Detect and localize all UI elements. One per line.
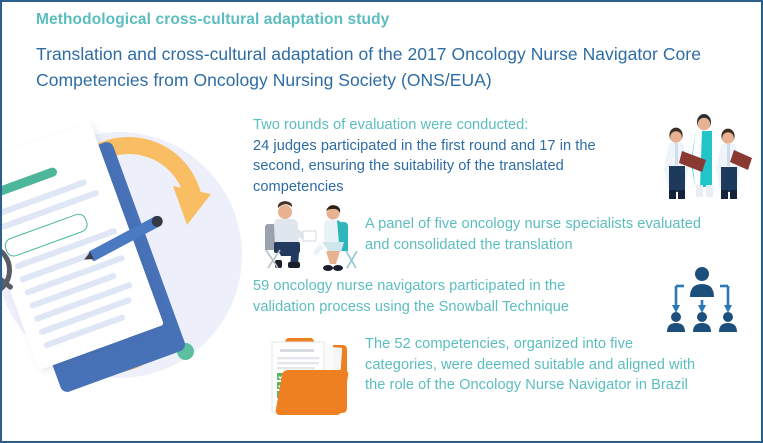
finding-snowball-validation: 59 oncology nurse navigators participate… bbox=[253, 276, 623, 317]
finding-rounds-of-evaluation: Two rounds of evaluation were conducted:… bbox=[253, 115, 608, 198]
page-title: Translation and cross-cultural adaptatio… bbox=[36, 42, 736, 93]
two-seated-people-illustration bbox=[260, 198, 360, 276]
document-review-illustration bbox=[0, 110, 236, 442]
finding-body-text: A panel of five oncology nurse specialis… bbox=[365, 214, 710, 255]
finding-body-text: 24 judges participated in the first roun… bbox=[253, 136, 608, 198]
finding-body-text: 59 oncology nurse navigators participate… bbox=[253, 276, 623, 317]
finding-competencies-result: The 52 competencies, organized into five… bbox=[365, 334, 700, 396]
checked-documents-folder-illustration bbox=[260, 330, 360, 422]
header: Methodological cross-cultural adaptation… bbox=[36, 10, 736, 93]
finding-lead-text: Two rounds of evaluation were conducted: bbox=[253, 115, 608, 136]
finding-expert-panel: A panel of five oncology nurse specialis… bbox=[365, 214, 710, 255]
study-type-eyebrow: Methodological cross-cultural adaptation… bbox=[36, 10, 736, 30]
finding-body-text: The 52 competencies, organized into five… bbox=[365, 334, 700, 396]
three-nurses-illustration bbox=[648, 110, 756, 202]
people-hierarchy-icon bbox=[652, 264, 752, 334]
infographic-canvas: Methodological cross-cultural adaptation… bbox=[0, 0, 763, 443]
